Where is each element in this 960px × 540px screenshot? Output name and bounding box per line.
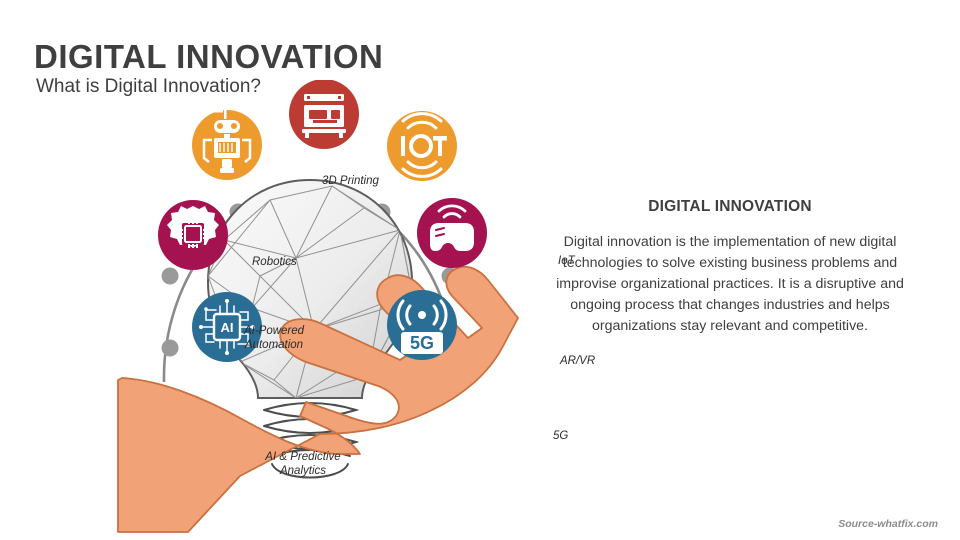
node-ar-vr	[417, 198, 487, 268]
node-5g: 5G	[387, 290, 457, 360]
page-title: DIGITAL INNOVATION	[34, 38, 383, 76]
node-label-3d-printing: 3D Printing	[322, 174, 379, 188]
source-attribution: Source-whatfix.com	[838, 518, 938, 530]
info-panel: DIGITAL INNOVATION Digital innovation is…	[552, 198, 908, 337]
node-label-ar-vr: AR/VR	[560, 354, 595, 368]
digital-innovation-infographic: AI	[100, 80, 520, 540]
node-3d-printing	[289, 80, 359, 149]
node-label-robotics: Robotics	[252, 255, 297, 269]
node-robotics	[192, 110, 262, 180]
node-iot	[387, 111, 457, 181]
node-label-5g: 5G	[553, 429, 568, 443]
svg-text:5G: 5G	[410, 333, 434, 353]
node-ai-powered-automation	[158, 200, 228, 270]
info-panel-body: Digital innovation is the implementation…	[552, 232, 908, 337]
node-label-ai-powered-automation: AI-Powered Automation	[235, 324, 313, 352]
info-panel-heading: DIGITAL INNOVATION	[552, 198, 908, 216]
svg-text:AI: AI	[221, 320, 234, 335]
slide-canvas: DIGITAL INNOVATION What is Digital Innov…	[0, 0, 960, 540]
node-label-ai-predictive-analytics: AI & Predictive Analytics	[258, 450, 348, 478]
